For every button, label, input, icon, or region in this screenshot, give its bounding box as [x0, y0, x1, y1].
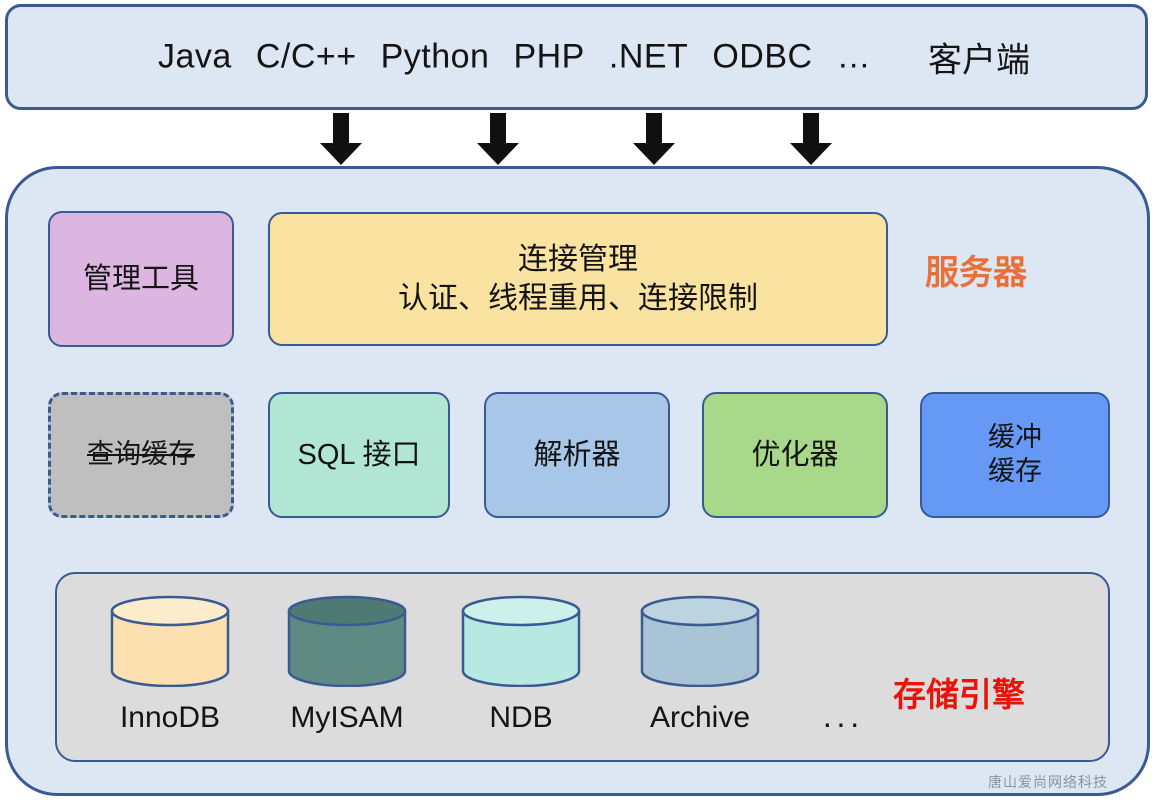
storage-engine-ndb[interactable]: NDB	[461, 595, 581, 735]
down-arrow-icon-1	[315, 113, 367, 165]
storage-engine-label: 存储引擎	[893, 668, 1025, 716]
down-arrow-icon-4	[785, 113, 837, 165]
client-layer-label: 客户端	[928, 33, 1030, 82]
component-query-cache-label: 查询缓存	[87, 438, 195, 472]
component-optimizer[interactable]: 优化器	[702, 392, 888, 518]
database-cylinder-icon	[110, 595, 230, 687]
client-language-php: PHP	[513, 38, 584, 76]
down-arrow-icon-2	[472, 113, 524, 165]
component-optimizer-label: 优化器	[751, 437, 838, 473]
down-arrow-icon-3	[628, 113, 680, 165]
component-buffer-cache-subtitle: 缓存	[988, 455, 1042, 489]
storage-engine-more-ellipsis: ···	[822, 705, 863, 742]
component-query-cache[interactable]: 查询缓存	[48, 392, 234, 518]
storage-engine-innodb[interactable]: InnoDB	[110, 595, 230, 735]
component-sql-interface[interactable]: SQL 接口	[268, 392, 450, 518]
component-parser[interactable]: 解析器	[484, 392, 670, 518]
component-buffer-cache[interactable]: 缓冲 缓存	[920, 392, 1110, 518]
client-language-python: Python	[381, 38, 490, 76]
storage-engine-myisam-label: MyISAM	[287, 701, 407, 735]
database-cylinder-icon	[287, 595, 407, 687]
storage-engine-archive[interactable]: Archive	[640, 595, 760, 735]
storage-engine-archive-label: Archive	[640, 701, 760, 735]
component-admin-tools[interactable]: 管理工具	[48, 211, 234, 347]
storage-engine-innodb-label: InnoDB	[110, 701, 230, 735]
watermark: 唐山爱尚网络科技	[988, 772, 1108, 792]
client-layer-box: JavaC/C++PythonPHP.NETODBC… 客户端	[5, 4, 1148, 110]
component-sql-interface-label: SQL 接口	[297, 437, 420, 473]
server-layer-label: 服务器	[925, 245, 1027, 294]
database-cylinder-icon	[461, 595, 581, 687]
database-cylinder-icon	[640, 595, 760, 687]
client-language-list: JavaC/C++PythonPHP.NETODBC…	[158, 38, 871, 77]
component-admin-tools-label: 管理工具	[83, 261, 199, 297]
client-language-odbc: ODBC	[712, 38, 812, 76]
client-language-java: Java	[158, 38, 232, 76]
component-buffer-cache-title: 缓冲	[988, 421, 1042, 455]
component-connection-management-subtitle: 认证、线程重用、连接限制	[398, 280, 758, 318]
client-language-more-ellipsis: …	[837, 38, 872, 76]
component-connection-management[interactable]: 连接管理 认证、线程重用、连接限制	[268, 212, 888, 346]
component-parser-label: 解析器	[533, 437, 620, 473]
storage-engine-myisam[interactable]: MyISAM	[287, 595, 407, 735]
component-connection-management-title: 连接管理	[518, 241, 638, 279]
client-language-cpp: C/C++	[256, 38, 357, 76]
client-language-dotnet: .NET	[609, 38, 688, 76]
storage-engine-ndb-label: NDB	[461, 701, 581, 735]
